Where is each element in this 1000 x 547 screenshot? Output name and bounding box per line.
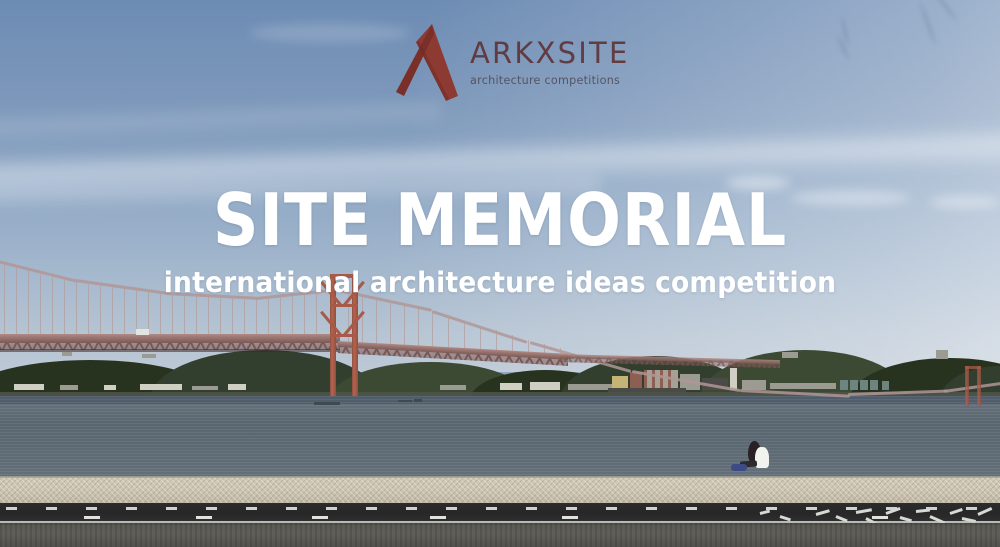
suspension-bridge — [0, 248, 1000, 408]
cobblestone-promenade — [0, 478, 1000, 504]
cloud-puff — [250, 24, 410, 42]
main-cable — [76, 279, 168, 295]
main-cable — [0, 258, 78, 283]
logo-text-block: ARKXSITE architecture competitions — [470, 37, 629, 86]
cloud-puff — [726, 176, 790, 190]
main-cable — [848, 390, 948, 396]
cloud-puff — [930, 196, 1000, 208]
bridge-tower-far — [977, 366, 981, 406]
main-cable — [944, 380, 1000, 393]
main-cable — [632, 370, 741, 392]
cloud-puff — [790, 190, 910, 206]
logo-tagline: architecture competitions — [470, 75, 629, 86]
competition-poster: ARKXSITE architecture competitions SITE … — [0, 0, 1000, 547]
foreground-texture — [0, 523, 1000, 547]
bridge-deck — [0, 334, 340, 343]
truck-on-bridge — [136, 329, 149, 335]
arkxsite-a-mark — [392, 22, 464, 102]
bridge-tower-far — [965, 366, 969, 406]
asphalt-road — [0, 503, 1000, 523]
logo-wordmark: ARKXSITE — [470, 39, 629, 68]
arkxsite-logo[interactable]: ARKXSITE architecture competitions — [392, 22, 622, 102]
main-cable — [740, 389, 850, 398]
